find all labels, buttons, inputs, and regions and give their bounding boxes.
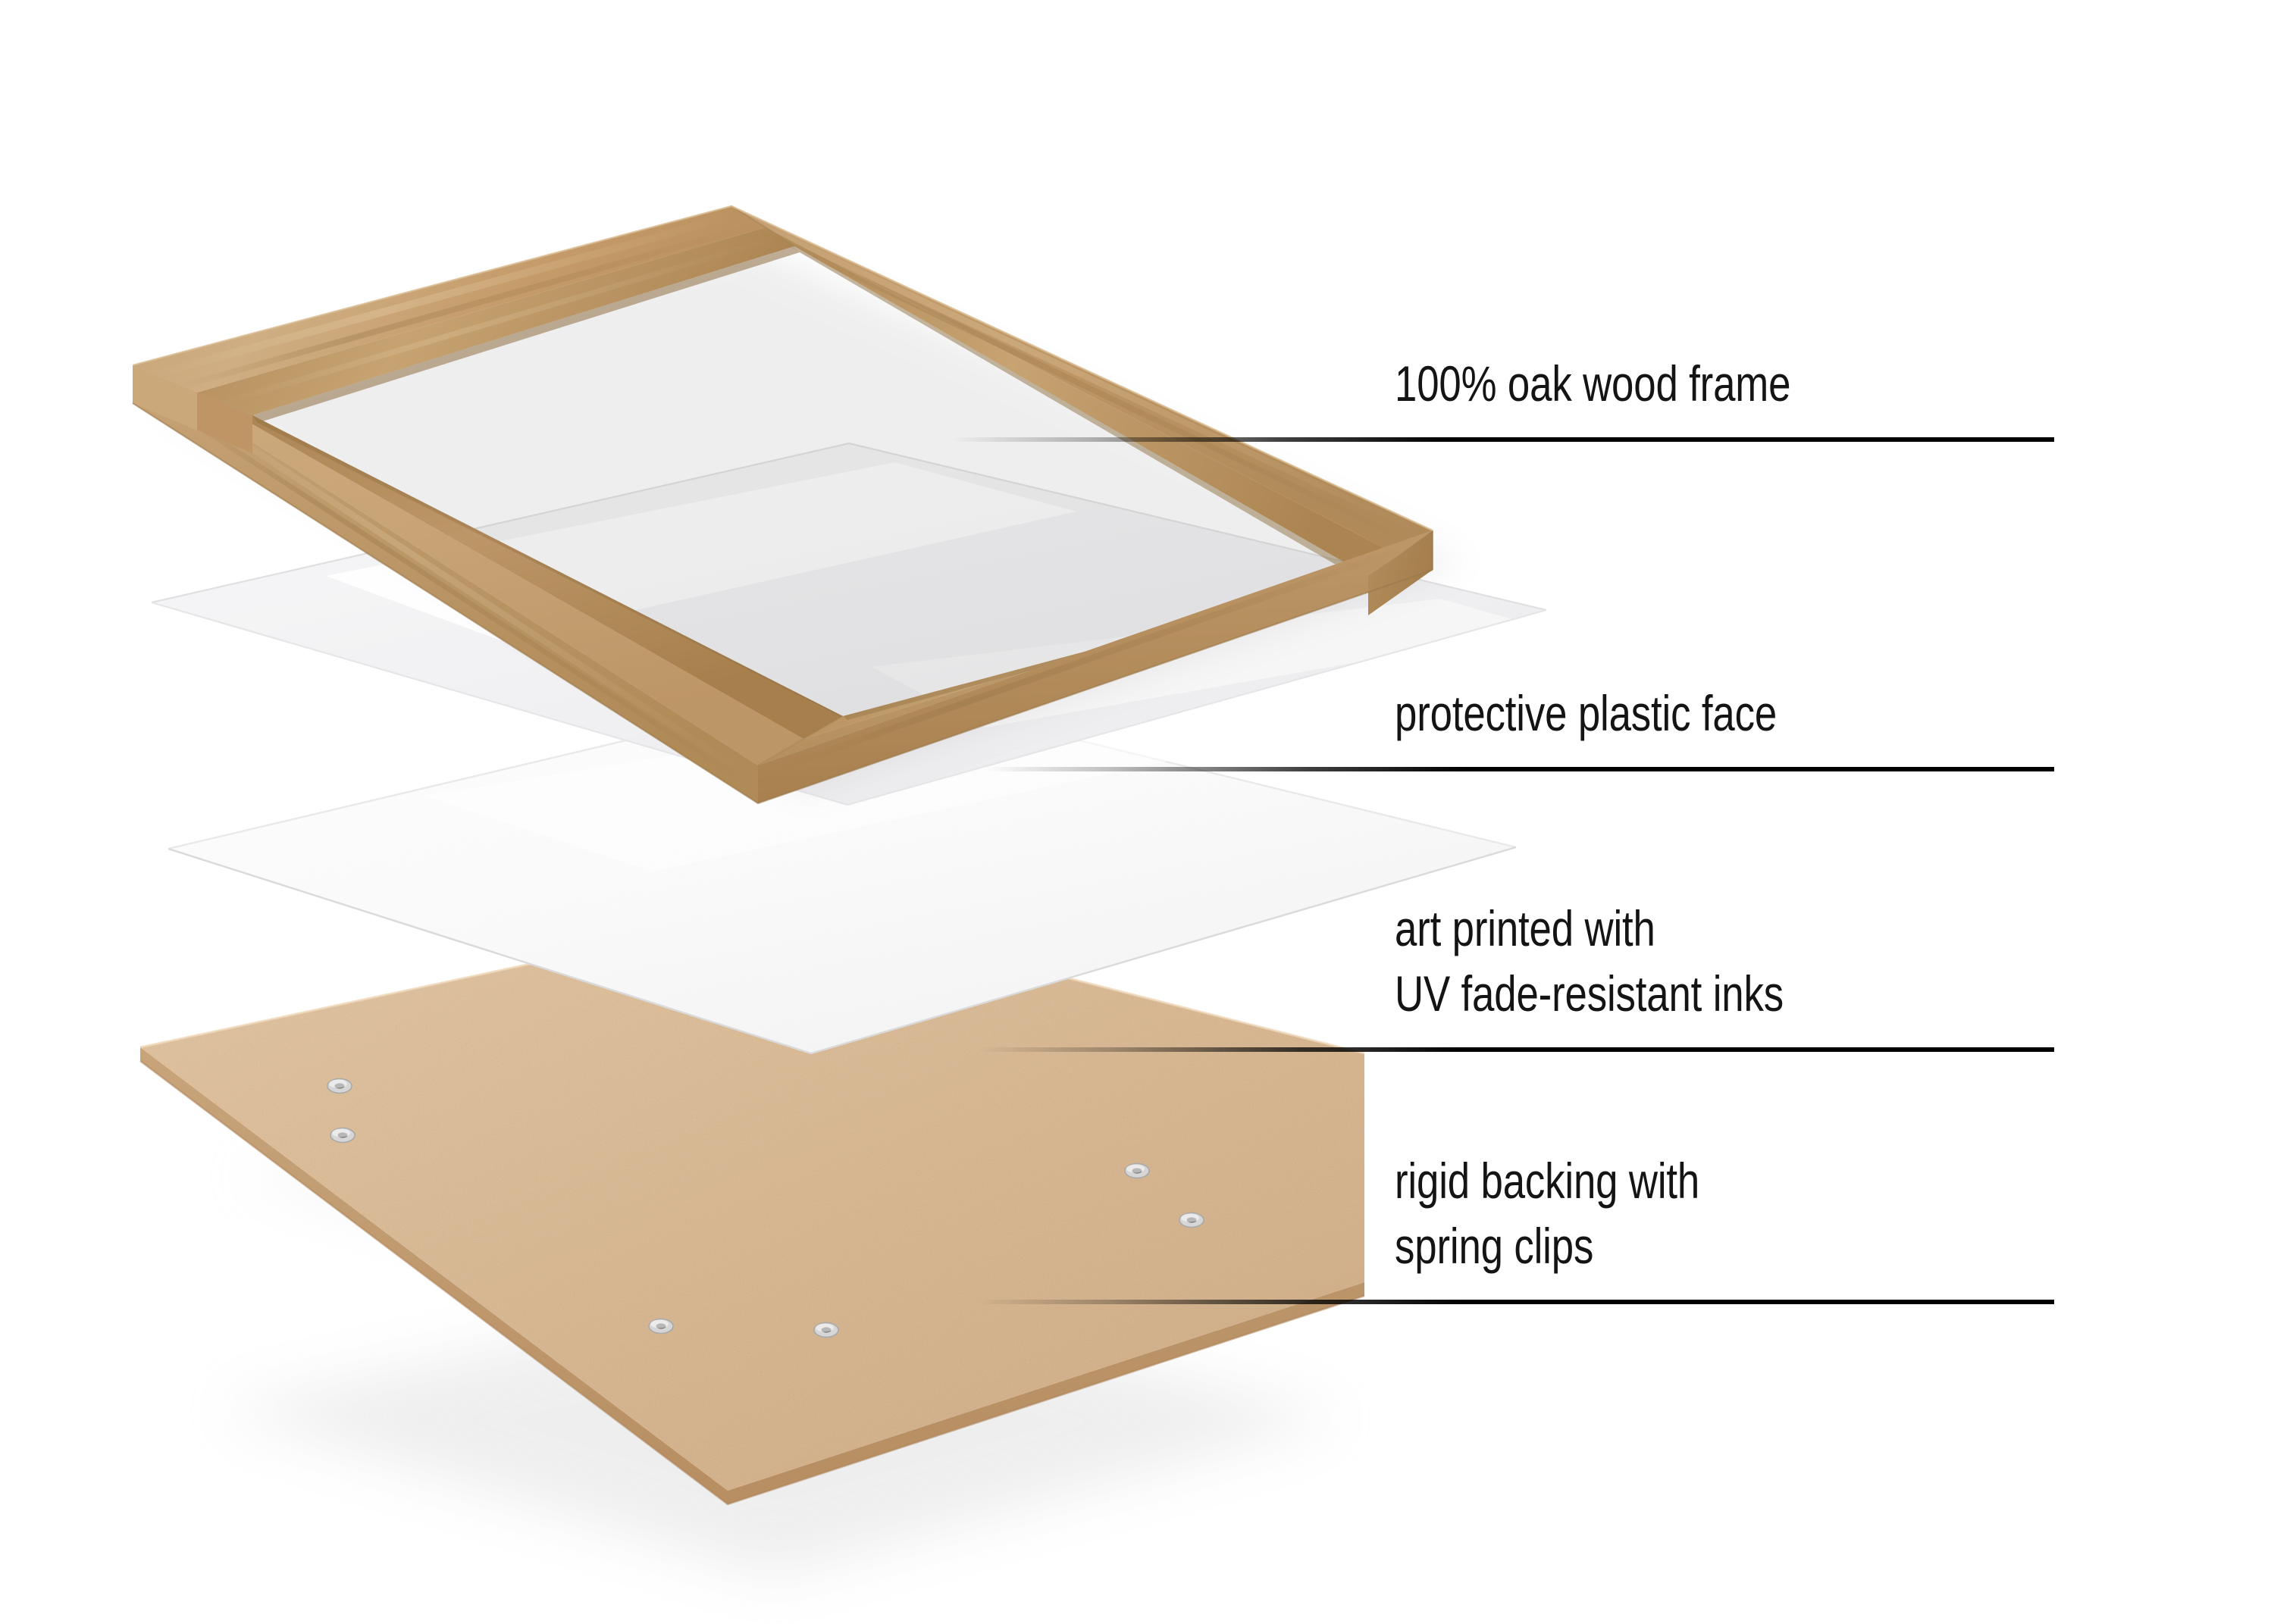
callout-label-art-printed-uv-inks: art printed with UV fade-resistant inks (1395, 896, 2001, 1027)
spring-clip (330, 1128, 355, 1143)
callout-oak-wood-frame: 100% oak wood frame (1395, 352, 2153, 417)
leader-line-rigid-backing-spring-clips (978, 1300, 2054, 1304)
callout-label-rigid-backing-spring-clips: rigid backing with spring clips (1395, 1149, 2001, 1279)
leader-line-protective-plastic-face (985, 767, 2054, 771)
spring-clip (814, 1323, 838, 1338)
spring-clip (327, 1079, 352, 1094)
spring-clip (1179, 1213, 1204, 1228)
diagram-canvas: 100% oak wood frame protective plastic f… (0, 0, 2274, 1624)
spring-clip (649, 1319, 673, 1334)
spring-clip (1125, 1164, 1149, 1178)
leader-line-oak-wood-frame (951, 437, 2054, 442)
callout-label-protective-plastic-face: protective plastic face (1395, 681, 2001, 746)
layer-oak-frame (133, 206, 1463, 803)
callout-protective-plastic-face: protective plastic face (1395, 681, 2153, 746)
callout-art-printed-uv-inks: art printed with UV fade-resistant inks (1395, 896, 2153, 1027)
exploded-frame-illustration (0, 0, 2274, 1624)
leader-line-art-printed-uv-inks (978, 1047, 2054, 1052)
callout-label-oak-wood-frame: 100% oak wood frame (1395, 352, 2001, 417)
callout-rigid-backing-spring-clips: rigid backing with spring clips (1395, 1149, 2153, 1279)
